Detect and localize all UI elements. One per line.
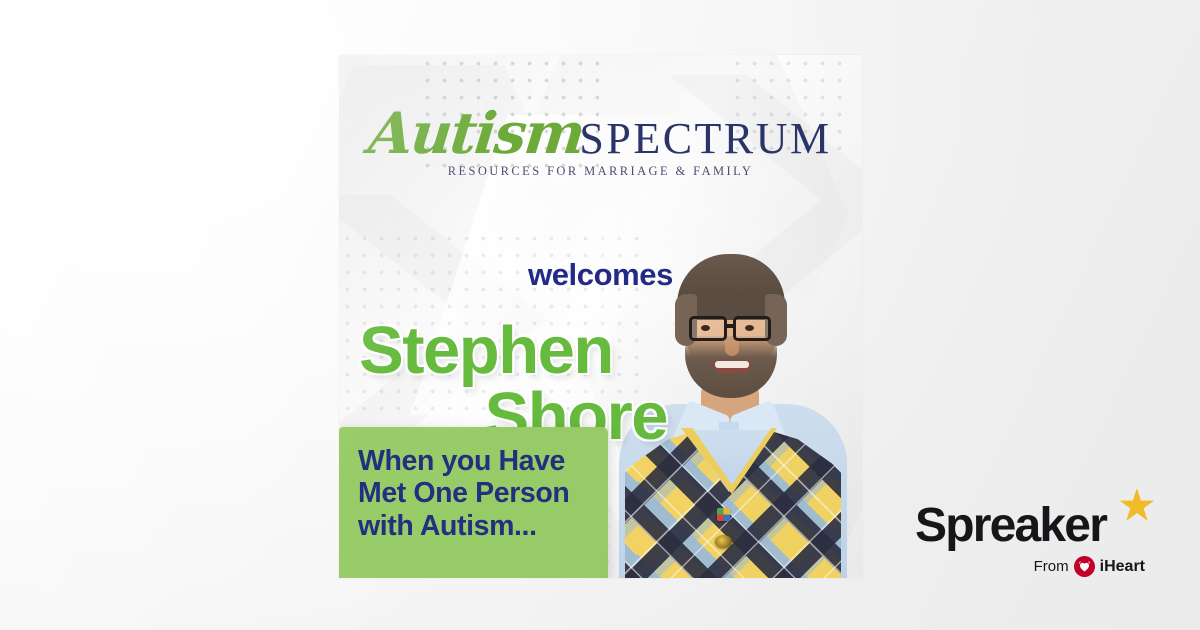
spreaker-wordmark-row: Spreaker ★ [915,502,1145,550]
logo-word-autism: Autism [366,105,586,162]
star-icon: ★ [1119,490,1153,524]
episode-title-line-3: with Autism... [358,510,608,542]
logo-word-spectrum: SPECTRUM [579,114,831,163]
iheartradio-icon [1074,556,1095,577]
episode-title-line-2: Met One Person [358,477,608,509]
welcomes-label: welcomes [339,257,862,293]
spreaker-wordmark-text: Spreaker [915,499,1106,552]
episode-title-box: When you Have Met One Person with Autism… [339,427,608,578]
guest-first-name: Stephen [343,319,673,383]
episode-title-line-1: When you Have [358,445,608,477]
logo-wordmark: AutismSPECTRUM [339,105,862,162]
from-label: From [1034,558,1069,575]
autism-spectrum-logo: AutismSPECTRUM RESOURCES FOR MARRIAGE & … [339,105,862,178]
iheart-label: iHeart [1100,558,1145,576]
podcast-share-card-page: AutismSPECTRUM RESOURCES FOR MARRIAGE & … [0,0,1200,630]
spreaker-branding[interactable]: Spreaker ★ From iHeart [915,502,1145,577]
spreaker-from-iheart: From iHeart [915,556,1145,577]
podcast-cover-art: AutismSPECTRUM RESOURCES FOR MARRIAGE & … [339,55,862,578]
